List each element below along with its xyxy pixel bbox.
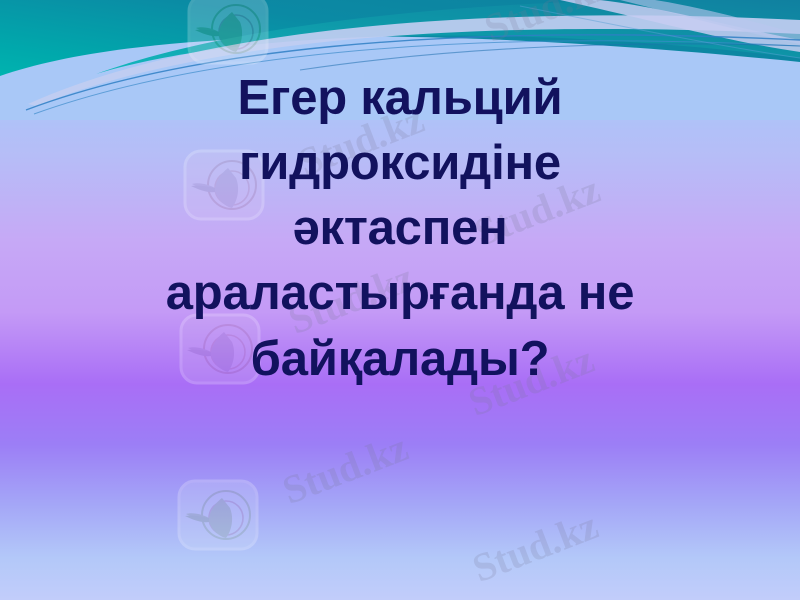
title-line: гидроксидіне	[0, 131, 800, 196]
slide-title: Егер кальций гидроксидіне әктаспен арала…	[0, 66, 800, 392]
title-line: Егер кальций	[0, 66, 800, 131]
slide-canvas: Stud.kz Stud.kz Stud.kz Stud.kz Stud.kz …	[0, 0, 800, 600]
title-line: байқалады?	[0, 327, 800, 392]
title-line: араластырғанда не	[0, 261, 800, 326]
title-line: әктаспен	[0, 196, 800, 261]
